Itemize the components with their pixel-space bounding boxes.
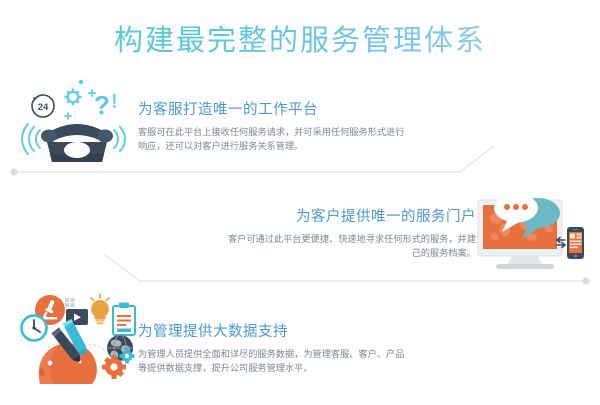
telephone-icon	[41, 124, 113, 162]
section-2-heading: 为客户提供唯一的服务门户	[228, 205, 476, 226]
monitor-mobile-chat-illustration	[466, 190, 584, 276]
section-3-heading: 为管理提供大数据支持	[138, 320, 378, 341]
sparkle-dot-icon	[79, 80, 83, 84]
soundwave-right-icon	[114, 127, 125, 151]
section-3-body-line-2: 等提供数据支撑，提升公司服务管理水平。	[138, 362, 378, 376]
section-service-platform: 为客服打造唯一的工作平台 客服可在此平台上接收任何服务请求，并可采用任何服务形式…	[138, 98, 378, 153]
gear-icon	[65, 89, 82, 106]
page-title: 构建最完整的服务管理体系	[0, 17, 600, 59]
section-customer-portal: 为客户提供唯一的服务门户 客户可通过此平台更便捷、快速地寻求任何形式的服务，并建…	[228, 205, 476, 260]
section-2-body-line-1: 客户可通过此平台更便捷、快速地寻求任何形式的服务，并建立自	[228, 233, 476, 247]
section-big-data-support: 为管理提供大数据支持 为管理人员提供全面和详尽的服务数据，为管理客服、客户、产品…	[138, 320, 378, 375]
section-2-body: 客户可通过此平台更便捷、快速地寻求任何形式的服务，并建立自 己的服务档案。	[228, 233, 476, 260]
soundwave-left-icon	[22, 124, 40, 154]
badge-24-hour-icon: 24	[32, 95, 54, 117]
clipboard-icon	[113, 303, 135, 336]
lightbulb-icon	[91, 294, 109, 324]
section-2-body-line-2: 己的服务档案。	[228, 247, 476, 261]
badge-24-label: 24	[38, 102, 49, 113]
page-root: 构建最完整的服务管理体系 ?	[0, 0, 600, 405]
creative-head-bigdata-illustration	[12, 290, 142, 385]
divider-top-dot	[10, 168, 17, 175]
smartphone-icon	[567, 227, 584, 259]
telephone-support-illustration: ? ! 24	[18, 74, 136, 166]
divider-bottom-dot	[582, 277, 589, 284]
section-3-body-line-1: 为管理人员提供全面和详尽的服务数据，为管理客服、客户、产品	[138, 348, 378, 362]
section-1-body-line-2: 响应，还可以对客户进行服务关系管理。	[138, 140, 378, 154]
grid-icon	[65, 298, 75, 307]
section-1-body-line-1: 客服可在此平台上接收任何服务请求，并可采用任何服务形式进行	[138, 126, 378, 140]
clock-icon	[22, 316, 47, 341]
section-1-heading: 为客服打造唯一的工作平台	[138, 98, 378, 119]
question-mark-icon: ?	[94, 90, 110, 120]
exclamation-mark-icon: !	[111, 91, 118, 113]
section-3-body: 为管理人员提供全面和详尽的服务数据，为管理客服、客户、产品 等提供数据支撑，提升…	[138, 348, 378, 375]
section-1-body: 客服可在此平台上接收任何服务请求，并可采用任何服务形式进行 响应，还可以对客户进…	[138, 126, 378, 153]
